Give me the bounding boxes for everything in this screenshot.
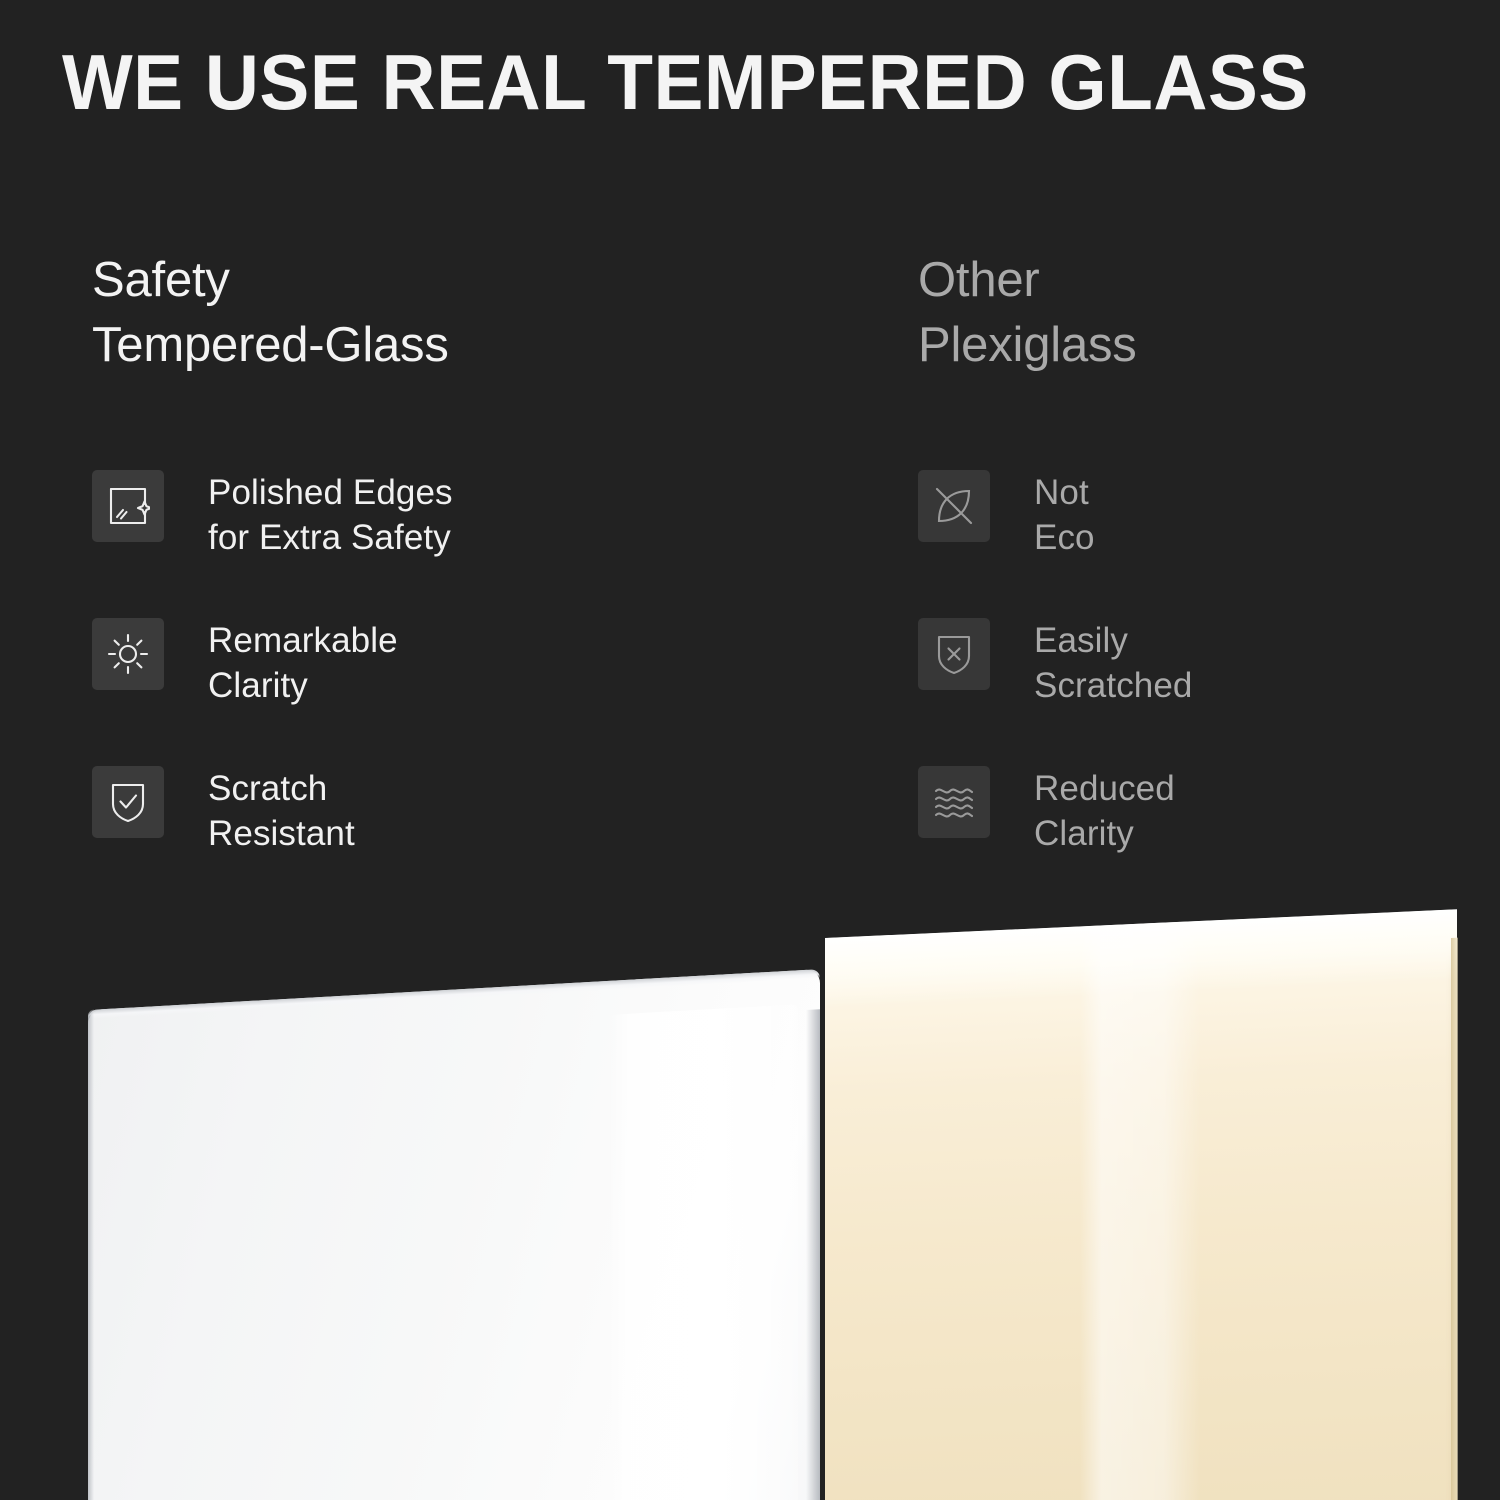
column-title-plexiglass: Other Plexiglass (918, 248, 1438, 378)
comparison-column-plexiglass: Other Plexiglass Not Eco (918, 248, 1438, 378)
feature-label: Remarkable Clarity (208, 616, 398, 708)
feature-list-tempered-glass: Polished Edges for Extra Safety Remarkab… (92, 468, 712, 912)
glass-panel-left-edge (88, 1010, 94, 1500)
glass-panel-right-edge (806, 1009, 820, 1500)
column-title-tempered-glass: Safety Tempered-Glass (92, 248, 712, 378)
sun-brightness-icon (92, 618, 164, 690)
feature-row: Easily Scratched (918, 616, 1438, 764)
leaf-crossed-out-icon (918, 470, 990, 542)
promo-image: WE USE REAL TEMPERED GLASS Safety Temper… (0, 0, 1500, 1500)
feature-list-plexiglass: Not Eco Easily Scratched (918, 468, 1438, 912)
white-tempered-glass-panel (88, 969, 820, 1500)
yellowed-plexiglass-panel (825, 909, 1457, 1500)
comparison-column-tempered-glass: Safety Tempered-Glass Polished Edges for… (92, 248, 712, 378)
plexiglass-panel-edge (1451, 938, 1458, 1500)
wavy-lines-icon (918, 766, 990, 838)
polished-square-sparkle-icon (92, 470, 164, 542)
feature-row: Remarkable Clarity (92, 616, 712, 764)
page-title: WE USE REAL TEMPERED GLASS (62, 40, 1396, 124)
shield-x-icon (918, 618, 990, 690)
feature-row: Not Eco (918, 468, 1438, 616)
feature-label: Easily Scratched (1034, 616, 1193, 708)
feature-label: Reduced Clarity (1034, 764, 1175, 856)
feature-row: Polished Edges for Extra Safety (92, 468, 712, 616)
shield-check-icon (92, 766, 164, 838)
product-photo (0, 870, 1500, 1500)
feature-label: Scratch Resistant (208, 764, 355, 856)
feature-label: Not Eco (1034, 468, 1095, 560)
feature-label: Polished Edges for Extra Safety (208, 468, 453, 560)
